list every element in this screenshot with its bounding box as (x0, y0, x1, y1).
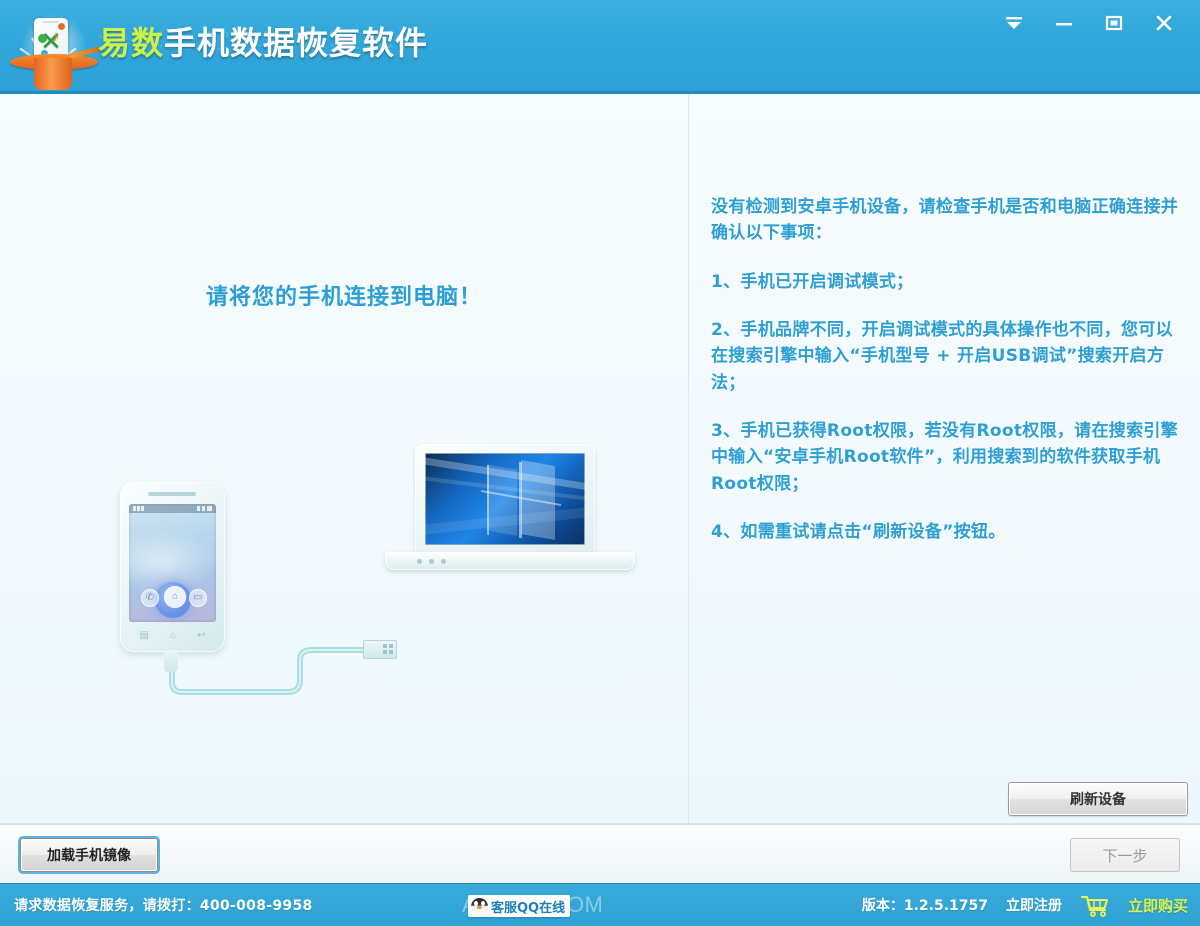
app-title-product: 手机数据恢复软件 (164, 24, 428, 62)
connection-illustration: ✆ ⌂ ▭ ▤ ⌂ ↩ (0, 424, 688, 734)
instructions-list: 没有检测到安卓手机设备，请检查手机是否和电脑正确连接并确认以下事项： 1、手机已… (711, 194, 1186, 567)
refresh-device-button[interactable]: 刷新设备 (1008, 782, 1188, 816)
phone-menu-icon: ▤ (140, 630, 149, 641)
usb-connector-icon (363, 640, 397, 659)
register-link[interactable]: 立即注册 (1006, 895, 1062, 915)
buy-now-link[interactable]: 立即购买 (1128, 895, 1188, 916)
close-icon[interactable] (1142, 6, 1186, 40)
phone-call-icon: ✆ (141, 589, 159, 607)
phone-navbar: ▤ ⌂ ↩ (129, 627, 216, 643)
status-bar-right: 版本：1.2.5.1757 立即注册 立即购买 (862, 884, 1188, 926)
phone-home-icon: ⌂ (164, 586, 186, 608)
instruction-item-4: 4、如需重试请点击“刷新设备”按钮。 (711, 519, 1186, 545)
version-label: 版本：1.2.5.1757 (862, 895, 988, 915)
application-window: ✕ ♪ 易数手机数据恢复软件 易数手机数据恢复软件 (0, 0, 1200, 926)
laptop-screen-windows10 (425, 453, 585, 545)
maximize-icon[interactable] (1092, 6, 1136, 40)
connect-phone-heading: 请将您的手机连接到电脑！ (0, 279, 688, 311)
qq-support-badge[interactable]: 客服QQ在线 (468, 895, 570, 917)
next-step-button[interactable]: 下一步 (1070, 838, 1180, 872)
phone-statusbar (129, 504, 216, 513)
phone-screen: ✆ ⌂ ▭ (129, 504, 216, 622)
app-title-brand: 易数 (98, 24, 164, 62)
android-phone-icon: ✆ ⌂ ▭ ▤ ⌂ ↩ (120, 482, 225, 652)
logo-music-note-icon: ♪ (52, 28, 60, 45)
instruction-item-2: 2、手机品牌不同，开启调试模式的具体操作也不同，您可以在搜索引擎中输入“手机型号… (711, 317, 1186, 396)
logo-dot-icon (38, 34, 47, 43)
minimize-icon[interactable] (1042, 6, 1086, 40)
status-bar: 请求数据恢复服务，请拨打：400-008-9958 ANGZM.COM 客服QQ… (0, 883, 1200, 926)
service-phone-text: 请求数据恢复服务，请拨打：400-008-9958 (14, 884, 313, 926)
action-bar: 加载手机镜像 下一步 (0, 824, 1200, 883)
app-title: 易数手机数据恢复软件 (98, 18, 428, 64)
load-phone-image-button[interactable]: 加载手机镜像 (20, 838, 158, 872)
phone-back-icon: ↩ (197, 630, 205, 641)
instructions-panel: 没有检测到安卓手机设备，请检查手机是否和电脑正确连接并确认以下事项： 1、手机已… (689, 94, 1200, 823)
connection-panel: 请将您的手机连接到电脑！ (0, 94, 689, 823)
laptop-indicator-lights (417, 559, 446, 564)
app-logo: ✕ ♪ (8, 4, 100, 92)
shopping-cart-icon[interactable] (1080, 893, 1110, 917)
logo-dot-icon (58, 23, 65, 30)
menu-icon[interactable] (992, 6, 1036, 40)
qq-penguin-icon (471, 898, 488, 915)
logo-hat-body-icon (34, 58, 72, 90)
instruction-item-1: 1、手机已开启调试模式； (711, 269, 1186, 295)
main-content: 请将您的手机连接到电脑！ (0, 94, 1200, 824)
instruction-item-3: 3、手机已获得Root权限，若没有Root权限，请在搜索引擎中输入“安卓手机Ro… (711, 418, 1186, 497)
laptop-icon (385, 444, 635, 594)
phone-message-icon: ▭ (189, 589, 207, 607)
qq-support-label: 客服QQ在线 (491, 897, 565, 916)
window-controls (992, 6, 1186, 40)
instruction-intro: 没有检测到安卓手机设备，请检查手机是否和电脑正确连接并确认以下事项： (711, 194, 1186, 247)
phone-speaker (148, 492, 196, 496)
phone-home-nav-icon: ⌂ (170, 630, 176, 641)
phone-usb-port (164, 650, 178, 672)
title-bar: ✕ ♪ 易数手机数据恢复软件 易数手机数据恢复软件 (0, 0, 1200, 94)
laptop-lid (415, 444, 595, 554)
